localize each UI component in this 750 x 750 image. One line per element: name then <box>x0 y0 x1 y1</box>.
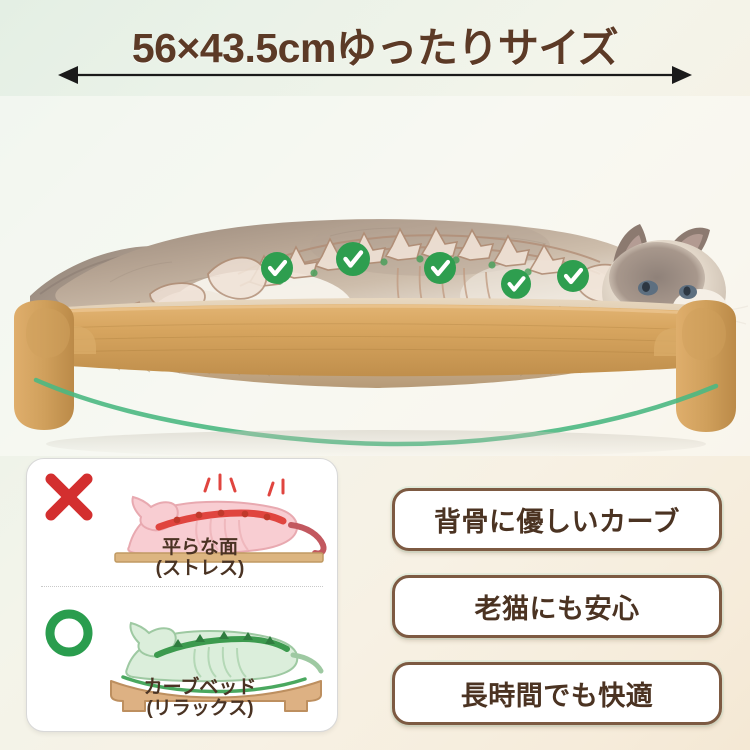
product-infographic: 56×43.5cmゆったりサイズ <box>0 0 750 750</box>
comparison-flat-surface: 平らな面 (ストレス) <box>27 459 337 595</box>
cat-on-curve-bed-illustration <box>0 96 750 456</box>
flat-surface-caption: 平らな面 (ストレス) <box>75 537 325 580</box>
check-icon-5 <box>557 260 589 292</box>
comparison-curve-bed: カーブベッド (リラックス) <box>27 595 337 731</box>
feature-label: 老猫にも安心 <box>475 587 640 626</box>
feature-pill-long-comfort: 長時間でも快適 <box>392 662 722 725</box>
cross-mark-icon <box>41 469 97 525</box>
hero-product-photo <box>0 96 750 456</box>
check-icon-1 <box>261 252 293 284</box>
feature-label: 長時間でも快適 <box>461 674 654 713</box>
check-icon-2 <box>336 242 370 276</box>
feature-pill-spine-curve: 背骨に優しいカーブ <box>392 488 722 551</box>
width-dimension-arrow <box>58 62 692 88</box>
check-icon-3 <box>424 252 456 284</box>
feature-label: 背骨に優しいカーブ <box>434 500 680 539</box>
curve-bed-caption: カーブベッド (リラックス) <box>75 677 325 720</box>
comparison-card: 平らな面 (ストレス) <box>26 458 338 732</box>
dimension-arrow-icon <box>58 62 692 88</box>
feature-pill-senior-cat: 老猫にも安心 <box>392 575 722 638</box>
circle-mark-icon <box>41 605 97 661</box>
card-divider <box>41 586 323 587</box>
check-icon-4 <box>501 269 531 299</box>
